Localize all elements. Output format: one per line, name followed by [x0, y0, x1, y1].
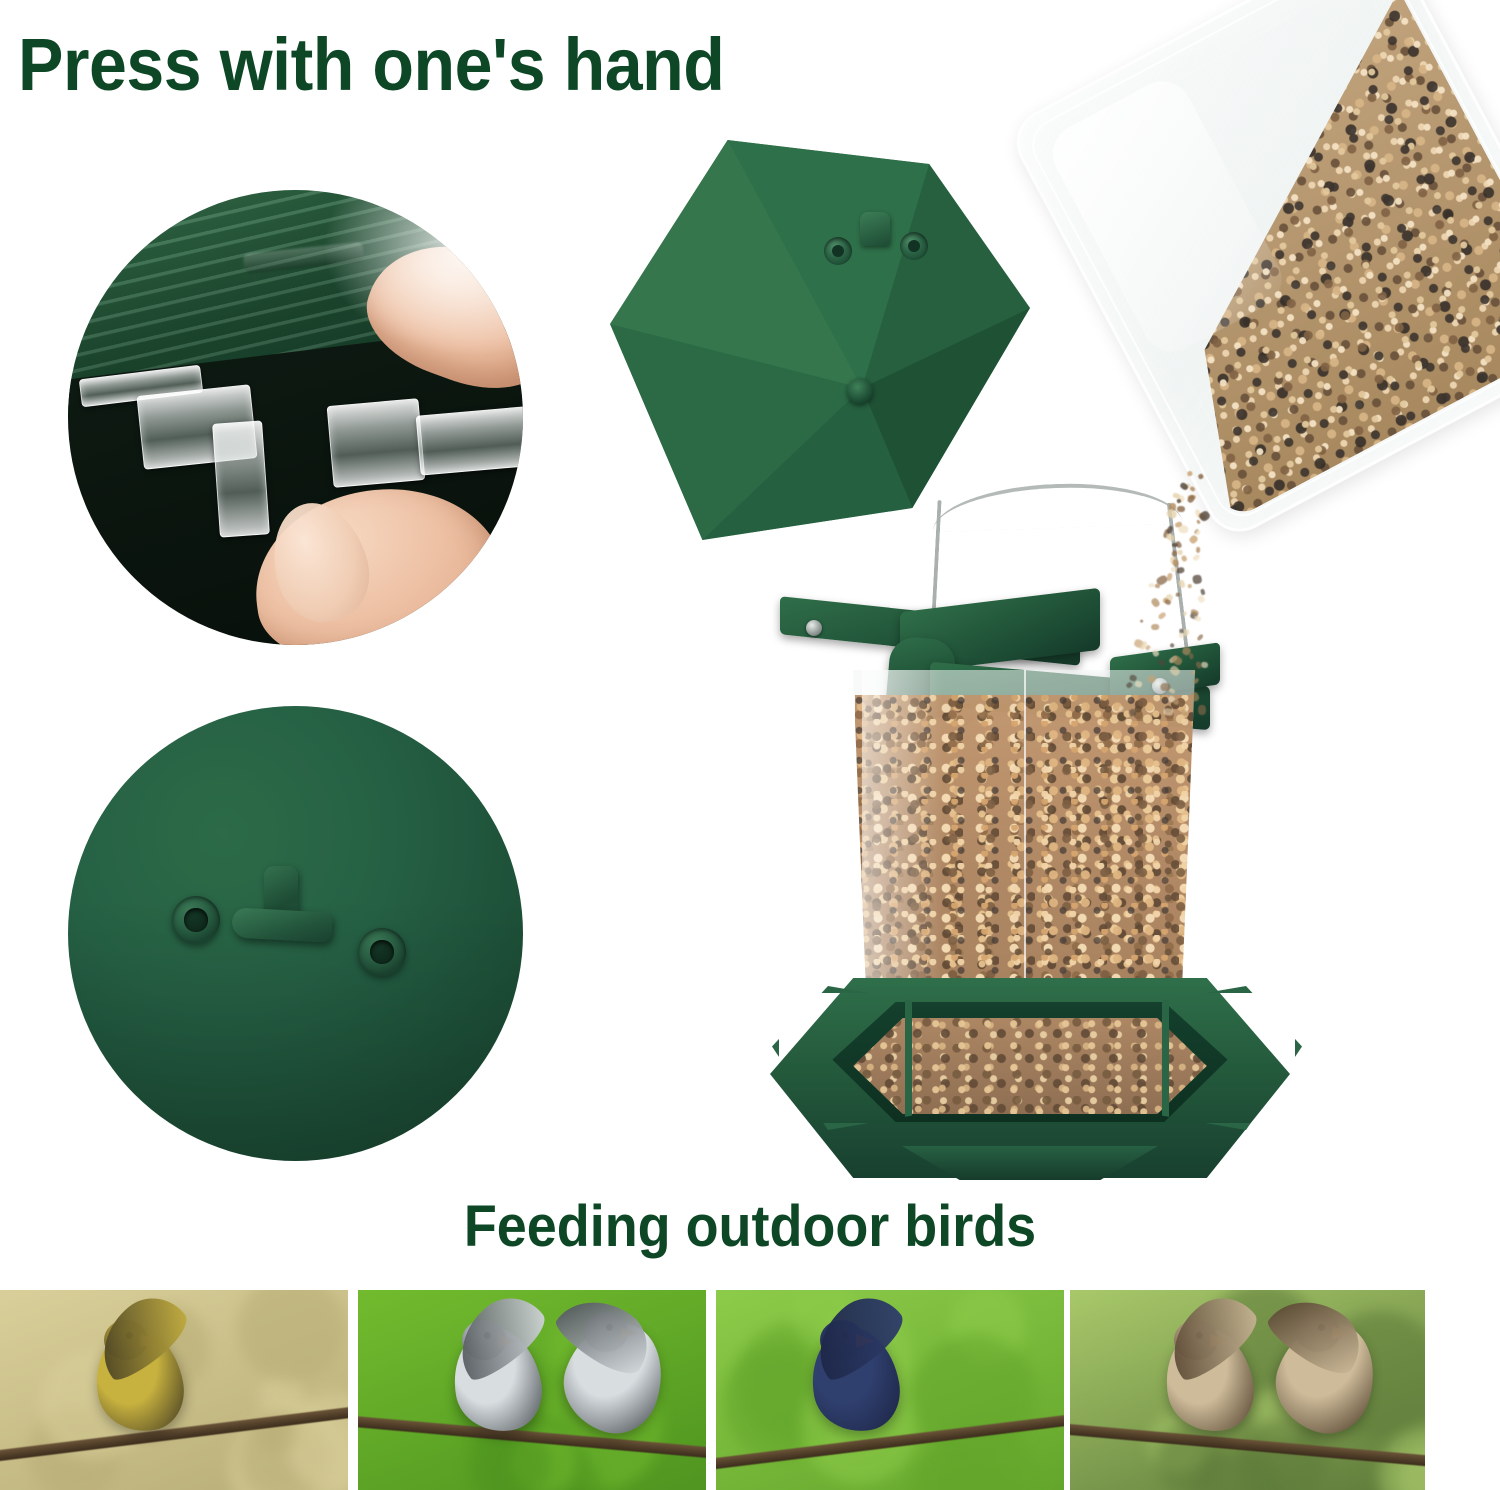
page-title-top: Press with one's hand — [18, 28, 724, 102]
feeder-roof — [610, 140, 1030, 540]
seed-pouring-container — [1005, 0, 1500, 543]
bird-photo-blue-magpie-landing — [716, 1290, 1064, 1490]
page-title-bottom: Feeding outdoor birds — [53, 1198, 1448, 1256]
bird-photo-starlings-in-flight — [358, 1290, 706, 1490]
product-photo-bird-feeder — [580, 110, 1320, 1200]
roof-hook-tab — [860, 212, 890, 246]
inset-press-clips-closeup — [68, 190, 523, 645]
clear-clip-rail — [416, 404, 523, 475]
roof-grommet-a-icon — [824, 237, 852, 265]
bird-photo-greenfinch-on-branch — [0, 1290, 348, 1490]
feeder-tray-base — [770, 950, 1290, 1200]
roof-hex-shape — [610, 140, 1030, 540]
bird-photo-strip — [0, 1290, 1500, 1490]
clear-clip-right — [327, 398, 426, 488]
screw-a-icon — [806, 620, 822, 636]
cap-shading — [68, 897, 523, 1161]
highlight-glow — [318, 190, 523, 360]
tray-rail-left — [772, 986, 912, 1130]
clear-clip-left-stem — [212, 420, 270, 537]
tray-rail-right — [1162, 986, 1302, 1130]
roof-grommet-b-icon — [900, 232, 928, 260]
bird-photo-tree-sparrows-pair — [1070, 1290, 1425, 1490]
product-marketing-image: Press with one's hand — [0, 0, 1500, 1490]
inset-roof-underside-closeup — [68, 706, 523, 1161]
jar-body — [1005, 0, 1500, 543]
